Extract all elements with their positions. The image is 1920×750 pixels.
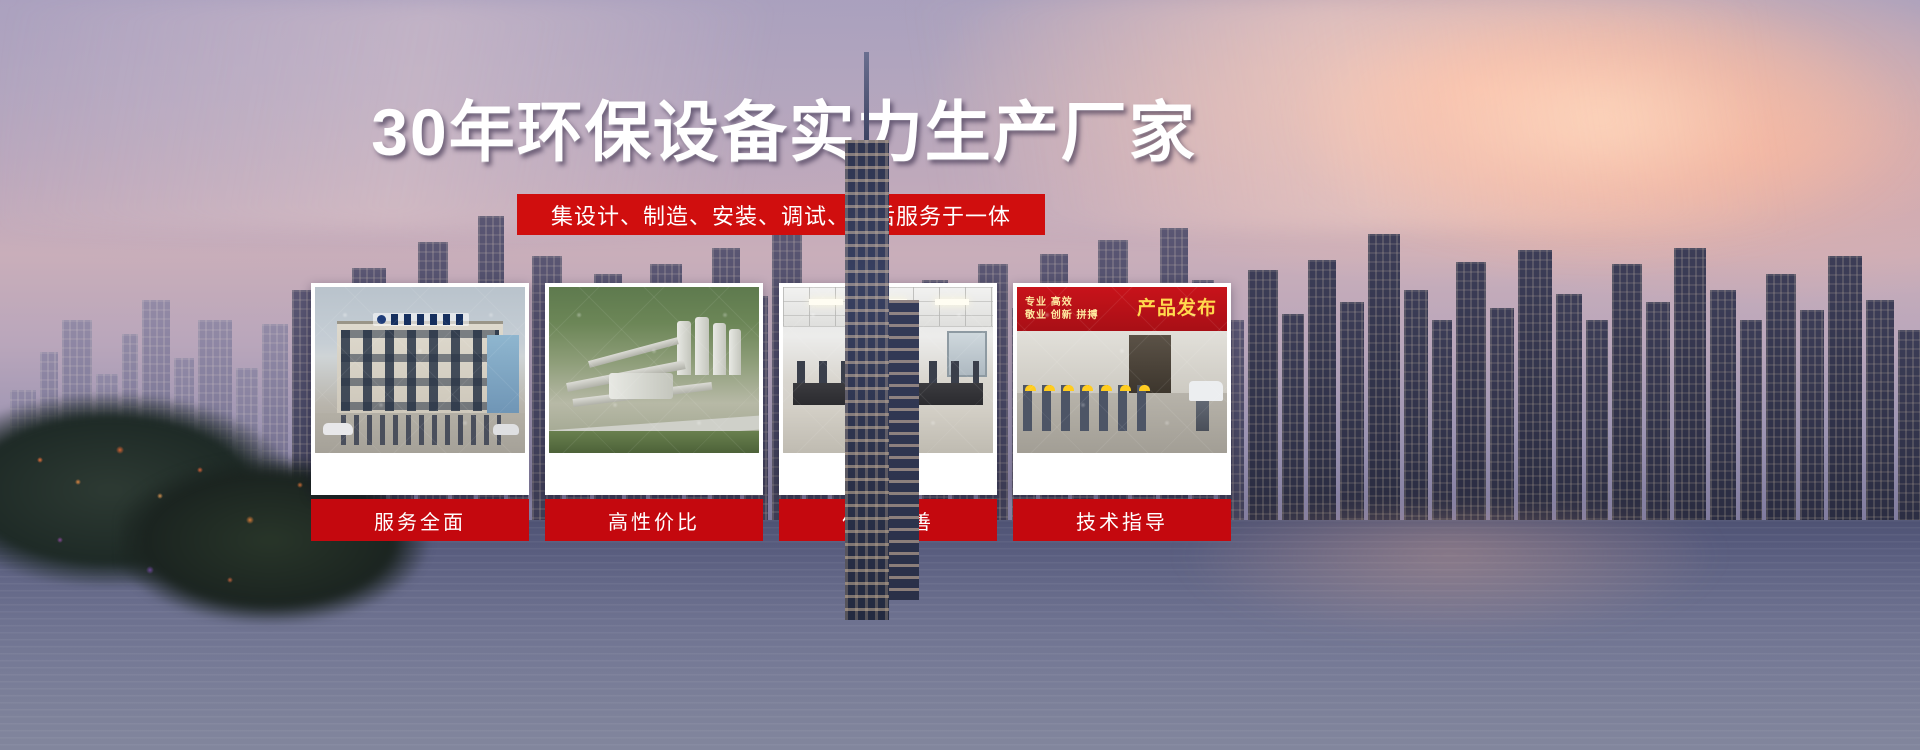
product-launch-banner: 专业 高效敬业 创新 拼搏 bbox=[1017, 287, 1227, 331]
card-caption: 高性价比 bbox=[545, 499, 763, 541]
card-image-company-office-building-with-staff-lineup bbox=[315, 287, 525, 453]
card-image-workshop-workers-with-hardhats-at-product-launch: 专业 高效敬业 创新 拼搏 bbox=[1017, 287, 1227, 453]
feature-card[interactable]: 专业 高效敬业 创新 拼搏 技术指导 bbox=[1013, 283, 1231, 495]
building-sign-icon bbox=[373, 313, 469, 326]
banner-headline: 30年环保设备实力生产厂家 bbox=[0, 96, 1568, 169]
feature-card[interactable]: 服务全面 bbox=[311, 283, 529, 495]
hero-banner: 30年环保设备实力生产厂家 集设计、制造、安装、调试、售后服务于一体 服务全面 bbox=[0, 0, 1920, 750]
card-caption: 技术指导 bbox=[1013, 499, 1231, 541]
headline-text: 30年环保设备实力生产厂家 bbox=[371, 96, 1196, 169]
water-reflection-glow bbox=[1150, 515, 1920, 715]
subtitle-text: 集设计、制造、安装、调试、售后服务于一体 bbox=[551, 199, 1011, 231]
secondary-skyscraper bbox=[889, 300, 919, 600]
card-image-aerial-view-of-production-plant bbox=[549, 287, 759, 453]
subtitle-bar: 集设计、制造、安装、调试、售后服务于一体 bbox=[517, 194, 1045, 235]
feature-card[interactable]: 高性价比 bbox=[545, 283, 763, 495]
central-skyscraper bbox=[845, 140, 889, 620]
card-caption: 服务全面 bbox=[311, 499, 529, 541]
feature-card-list: 服务全面 高性价比 bbox=[311, 283, 1249, 495]
